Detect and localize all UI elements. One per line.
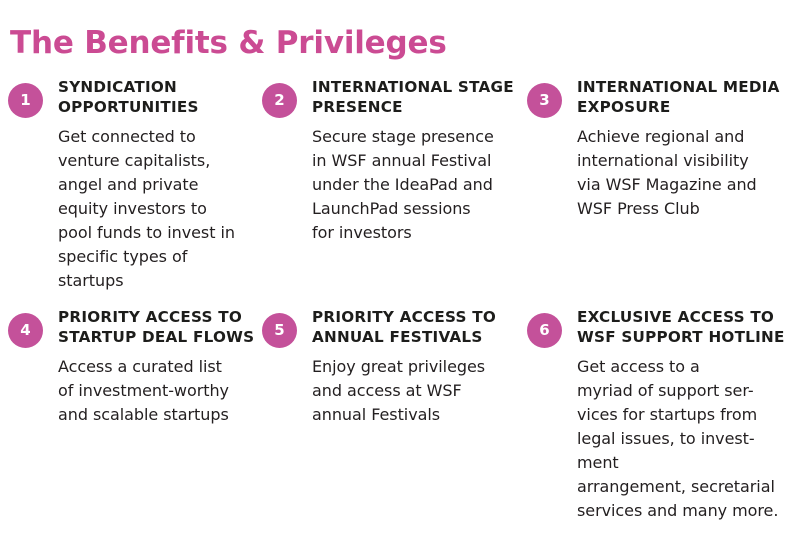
benefits-grid: 1 SYNDICATION OPPORTUNITIES Get connecte… bbox=[0, 72, 793, 542]
benefit-number-badge-6: 6 bbox=[527, 313, 562, 348]
benefit-number-badge-3: 3 bbox=[527, 83, 562, 118]
text-line: Enjoy great privileges bbox=[312, 355, 518, 379]
text-line: annual Festivals bbox=[312, 403, 518, 427]
text-line: specific types of bbox=[58, 245, 264, 269]
text-line: under the IdeaPad and bbox=[312, 173, 518, 197]
benefit-text-4: Access a curated listof investment-worth… bbox=[58, 347, 264, 427]
benefit-text-6: Get access to amyriad of support ser-vic… bbox=[577, 347, 793, 523]
benefit-item-6: 6 EXCLUSIVE ACCESS TO WSF SUPPORT HOTLIN… bbox=[525, 302, 793, 523]
text-line: angel and private bbox=[58, 173, 264, 197]
text-line: venture capitalists, bbox=[58, 149, 264, 173]
benefit-item-3: 3 INTERNATIONAL MEDIA EXPOSURE Achieve r… bbox=[525, 72, 793, 221]
benefit-item-5: 5 PRIORITY ACCESS TO ANNUAL FESTIVALS En… bbox=[260, 302, 518, 427]
text-line: legal issues, to invest- bbox=[577, 427, 793, 451]
benefit-body-3: INTERNATIONAL MEDIA EXPOSURE Achieve reg… bbox=[577, 72, 793, 221]
benefit-body-6: EXCLUSIVE ACCESS TO WSF SUPPORT HOTLINE … bbox=[577, 302, 793, 523]
benefit-heading-2: INTERNATIONAL STAGE PRESENCE bbox=[312, 72, 518, 117]
text-line: myriad of support ser- bbox=[577, 379, 793, 403]
benefit-text-3: Achieve regional andinternational visibi… bbox=[577, 117, 793, 221]
text-line: vices for startups from bbox=[577, 403, 793, 427]
benefit-number-badge-1: 1 bbox=[8, 83, 43, 118]
benefit-body-4: PRIORITY ACCESS TO STARTUP DEAL FLOWS Ac… bbox=[58, 302, 264, 427]
text-line: via WSF Magazine and bbox=[577, 173, 793, 197]
benefit-body-5: PRIORITY ACCESS TO ANNUAL FESTIVALS Enjo… bbox=[312, 302, 518, 427]
benefit-number-badge-5: 5 bbox=[262, 313, 297, 348]
text-line: in WSF annual Festival bbox=[312, 149, 518, 173]
text-line: Secure stage presence bbox=[312, 125, 518, 149]
text-line: Achieve regional and bbox=[577, 125, 793, 149]
text-line: LaunchPad sessions bbox=[312, 197, 518, 221]
benefit-heading-1: SYNDICATION OPPORTUNITIES bbox=[58, 72, 264, 117]
text-line: services and many more. bbox=[577, 499, 793, 523]
text-line: ment bbox=[577, 451, 793, 475]
text-line: startups bbox=[58, 269, 264, 293]
text-line: and scalable startups bbox=[58, 403, 264, 427]
benefit-text-2: Secure stage presencein WSF annual Festi… bbox=[312, 117, 518, 245]
text-line: equity investors to bbox=[58, 197, 264, 221]
text-line: pool funds to invest in bbox=[58, 221, 264, 245]
benefit-heading-4: PRIORITY ACCESS TO STARTUP DEAL FLOWS bbox=[58, 302, 264, 347]
benefit-heading-6: EXCLUSIVE ACCESS TO WSF SUPPORT HOTLINE bbox=[577, 302, 793, 347]
benefit-text-1: Get connected toventure capitalists,ange… bbox=[58, 117, 264, 293]
text-line: Access a curated list bbox=[58, 355, 264, 379]
text-line: Get access to a bbox=[577, 355, 793, 379]
text-line: international visibility bbox=[577, 149, 793, 173]
benefit-body-1: SYNDICATION OPPORTUNITIES Get connected … bbox=[58, 72, 264, 293]
text-line: arrangement, secretarial bbox=[577, 475, 793, 499]
text-line: for investors bbox=[312, 221, 518, 245]
benefit-body-2: INTERNATIONAL STAGE PRESENCE Secure stag… bbox=[312, 72, 518, 245]
benefit-heading-5: PRIORITY ACCESS TO ANNUAL FESTIVALS bbox=[312, 302, 518, 347]
text-line: of investment-worthy bbox=[58, 379, 264, 403]
text-line: Get connected to bbox=[58, 125, 264, 149]
benefit-item-1: 1 SYNDICATION OPPORTUNITIES Get connecte… bbox=[6, 72, 264, 293]
benefit-heading-3: INTERNATIONAL MEDIA EXPOSURE bbox=[577, 72, 793, 117]
page-title: The Benefits & Privileges bbox=[10, 23, 447, 63]
benefits-row-1: 1 SYNDICATION OPPORTUNITIES Get connecte… bbox=[0, 72, 793, 302]
benefit-number-badge-4: 4 bbox=[8, 313, 43, 348]
benefit-item-2: 2 INTERNATIONAL STAGE PRESENCE Secure st… bbox=[260, 72, 518, 245]
benefits-page: The Benefits & Privileges 1 SYNDICATION … bbox=[0, 0, 793, 547]
benefit-number-badge-2: 2 bbox=[262, 83, 297, 118]
benefit-item-4: 4 PRIORITY ACCESS TO STARTUP DEAL FLOWS … bbox=[6, 302, 264, 427]
benefits-row-2: 4 PRIORITY ACCESS TO STARTUP DEAL FLOWS … bbox=[0, 302, 793, 542]
benefit-text-5: Enjoy great privilegesand access at WSFa… bbox=[312, 347, 518, 427]
text-line: WSF Press Club bbox=[577, 197, 793, 221]
text-line: and access at WSF bbox=[312, 379, 518, 403]
